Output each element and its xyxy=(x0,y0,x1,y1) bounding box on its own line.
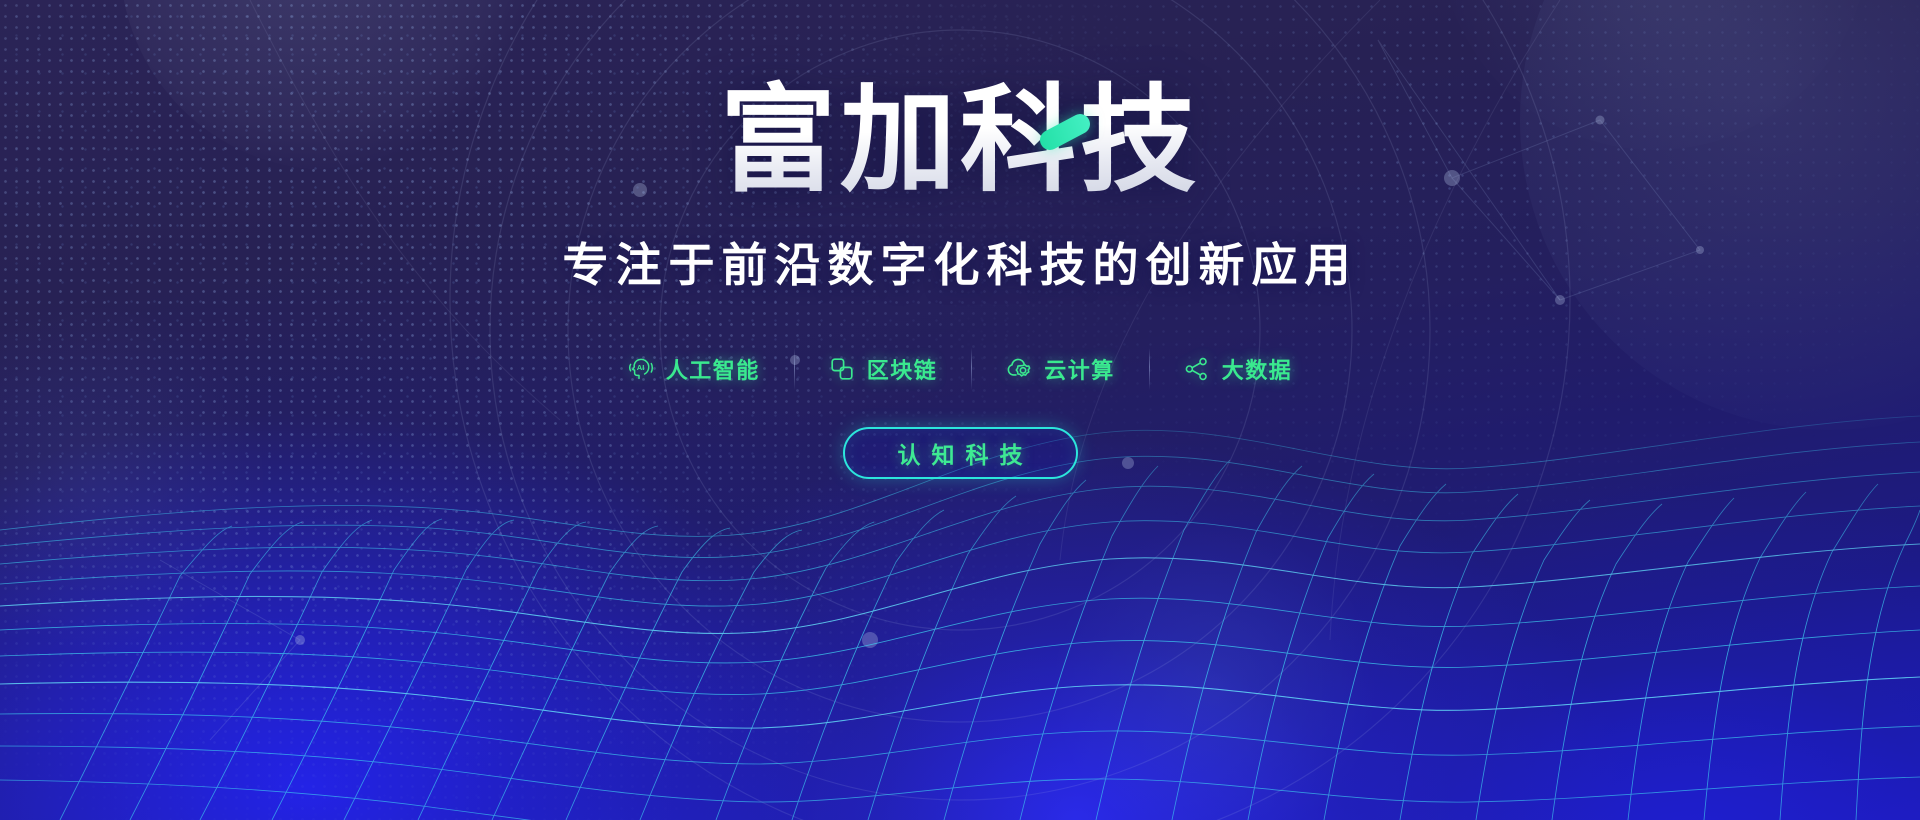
feature-tag-label: 人工智能 xyxy=(666,353,760,385)
svg-text:AI: AI xyxy=(637,363,645,372)
feature-tag-label: 大数据 xyxy=(1222,353,1293,385)
cta-button[interactable]: 认知科技 xyxy=(843,427,1078,479)
feature-tag-row: AI 人工智能 区块链 xyxy=(594,347,1327,391)
big-data-share-icon xyxy=(1184,356,1210,382)
feature-tag-bigdata[interactable]: 大数据 xyxy=(1150,353,1327,385)
feature-tag-ai[interactable]: AI 人工智能 xyxy=(594,353,794,385)
blockchain-icon xyxy=(829,356,855,382)
page-title: 富加科技 xyxy=(720,78,1200,203)
feature-tag-label: 区块链 xyxy=(867,353,938,385)
feature-tag-label: 云计算 xyxy=(1044,353,1115,385)
brand-title-text: 富加科技 xyxy=(720,75,1200,205)
ai-brain-icon: AI xyxy=(628,356,654,382)
feature-tag-cloud[interactable]: 云计算 xyxy=(972,353,1149,385)
cloud-computing-icon xyxy=(1006,356,1032,382)
hero-content: 富加科技 专注于前沿数字化科技的创新应用 AI 人工智能 xyxy=(0,0,1920,820)
page-subtitle: 专注于前沿数字化科技的创新应用 xyxy=(563,229,1358,295)
hero-banner: 富加科技 专注于前沿数字化科技的创新应用 AI 人工智能 xyxy=(0,0,1920,820)
feature-tag-blockchain[interactable]: 区块链 xyxy=(795,353,972,385)
